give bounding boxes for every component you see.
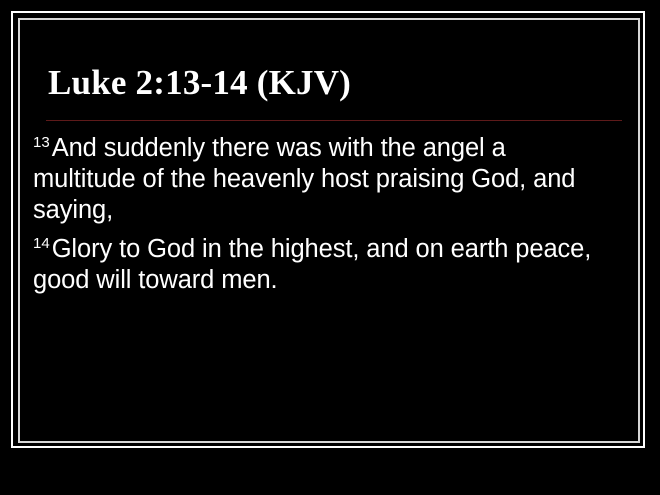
verse-number: 13 [33, 134, 52, 151]
verse-number: 14 [33, 235, 52, 252]
title-divider [46, 120, 622, 121]
slide-content-area: Luke 2:13-14 (KJV) 13And suddenly there … [20, 20, 640, 443]
verse-text: And suddenly there was with the angel a … [33, 134, 575, 224]
list-item: 13And suddenly there was with the angel … [33, 133, 613, 226]
presentation-slide: Luke 2:13-14 (KJV) 13And suddenly there … [0, 0, 660, 495]
list-item: 14Glory to God in the highest, and on ea… [33, 234, 613, 296]
verse-text: Glory to God in the highest, and on eart… [33, 235, 591, 294]
verse-list: 13And suddenly there was with the angel … [33, 133, 613, 304]
page-title: Luke 2:13-14 (KJV) [48, 62, 608, 104]
